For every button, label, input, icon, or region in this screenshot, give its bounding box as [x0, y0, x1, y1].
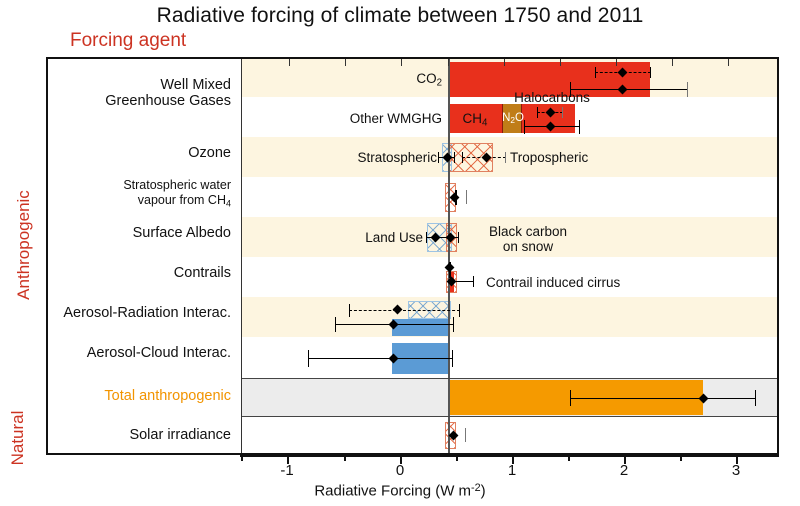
forcing-agent-header: Forcing agent — [70, 30, 186, 52]
axis-label-2: 2 — [620, 462, 628, 479]
errorcap-ari-inner-right — [459, 304, 460, 317]
row-label-solar: Solar irradiance — [129, 427, 231, 443]
errorbar-aerosol-cloud — [308, 358, 453, 359]
row-label-aerosol-radiation: Aerosol-Radiation Interac. — [63, 305, 231, 321]
errorcap-contrail-cirrus-right — [473, 276, 474, 287]
axis-tick-minor-0.5 — [456, 455, 458, 461]
x-axis-title: Radiative Forcing (W m-2) — [0, 482, 800, 500]
errorcap-wmghg-outer-left — [524, 120, 525, 134]
row-label-total-anthropogenic: Total anthropogenic — [104, 388, 231, 404]
annotation-black-carbon: Black carbon on snow — [489, 224, 567, 254]
band-aerosol-radiation — [242, 297, 777, 337]
top-tick-4 — [448, 59, 449, 66]
side-label-natural: Natural — [8, 388, 28, 488]
axis-tick-minor-1.5 — [568, 455, 570, 461]
top-tick-6 — [560, 59, 561, 66]
errorcap-total-right — [755, 390, 756, 406]
row-label-strat-water: Stratospheric water vapour from CH4 — [123, 178, 231, 211]
axis-tick-minor-2.5 — [680, 455, 682, 461]
annotation-n2o: N2O — [502, 112, 524, 125]
errorcap-solar-right — [465, 428, 466, 442]
row-label-albedo: Surface Albedo — [133, 225, 231, 241]
errorcap-albedo-left — [426, 232, 427, 243]
annotation-ch4: CH4 — [463, 111, 488, 128]
annotation-halocarbons: Halocarbons — [514, 90, 590, 105]
row-label-ozone: Ozone — [188, 145, 231, 161]
top-tick-1 — [289, 59, 290, 66]
errorcap-ozone-strat-left — [438, 152, 439, 163]
top-tick-3 — [401, 59, 402, 66]
annotation-tropospheric: Tropospheric — [510, 150, 588, 165]
side-label-anthropogenic: Anthropogenic — [14, 175, 34, 315]
row-label-wmghg-line2: Greenhouse Gases — [105, 93, 231, 109]
band-aerosol-cloud — [242, 337, 777, 377]
errorcap-aci-left — [308, 350, 309, 367]
errorcap-ari-inner-left — [349, 304, 350, 317]
zero-axis-line — [448, 59, 450, 453]
errorcap-co2-inner-left — [595, 67, 596, 78]
row-label-wmghg: Well Mixed Greenhouse Gases — [105, 77, 231, 109]
errorcap-ari-outer-right — [453, 317, 454, 332]
annotation-contrail-cirrus: Contrail induced cirrus — [486, 275, 620, 290]
row-label-column: Well Mixed Greenhouse Gases Ozone Strato… — [48, 59, 242, 453]
errorbar-total-anthropogenic — [570, 398, 756, 399]
errorcap-ozone-trop-right — [505, 152, 506, 163]
axis-label-3: 3 — [732, 462, 740, 479]
divider-total-bottom — [242, 416, 777, 417]
errorcap-strat-water-right — [466, 190, 467, 204]
axis-label-0: 0 — [396, 462, 404, 479]
plot-area: CO2 Other WMGHG CH4 N2O Halocarbons — [242, 59, 777, 453]
axis-tick-minor--1.5 — [241, 455, 243, 461]
chart-frame: Well Mixed Greenhouse Gases Ozone Strato… — [46, 57, 779, 455]
x-axis-line — [240, 455, 779, 457]
axis-label-1: 1 — [508, 462, 516, 479]
errorcap-co2-outer-right — [687, 82, 688, 97]
bar-aerosol-radiation — [392, 319, 448, 336]
errorbar-aerosol-radiation-inner — [349, 310, 460, 311]
top-tick-9 — [728, 59, 729, 66]
annotation-stratospheric: Stratospheric — [357, 150, 437, 165]
divider-total-top — [242, 378, 777, 379]
axis-tick-minor--0.5 — [344, 455, 346, 461]
errorcap-wmghg-inner-right — [562, 107, 563, 118]
top-tick-5 — [504, 59, 505, 66]
errorcap-co2-inner-right — [650, 67, 651, 78]
errorcap-ozone-trop-left — [462, 152, 463, 163]
errorcap-ari-outer-left — [335, 317, 336, 332]
errorcap-total-left — [570, 390, 571, 406]
errorcap-aci-right — [452, 350, 453, 367]
band-strat-water — [242, 177, 777, 217]
errorcap-ozone-strat-right — [454, 152, 455, 163]
row-label-aerosol-cloud: Aerosol-Cloud Interac. — [87, 345, 231, 361]
annotation-co2: CO2 — [416, 71, 442, 88]
page-title: Radiative forcing of climate between 175… — [0, 4, 800, 28]
errorcap-wmghg-inner-left — [537, 107, 538, 118]
annotation-other-wmghg: Other WMGHG — [350, 111, 442, 126]
band-solar — [242, 416, 777, 453]
axis-label--1: -1 — [280, 462, 293, 479]
ch4-subscript: 4 — [226, 198, 231, 208]
top-tick-8 — [672, 59, 673, 66]
row-label-wmghg-line1: Well Mixed — [160, 77, 231, 93]
axis-unit-exponent: -2 — [471, 482, 481, 494]
errorcap-albedo-right — [458, 232, 459, 243]
row-label-contrails: Contrails — [174, 265, 231, 281]
errorcap-wmghg-outer-right — [579, 120, 580, 134]
annotation-land-use: Land Use — [365, 230, 423, 245]
top-tick-7 — [616, 59, 617, 66]
top-tick-2 — [345, 59, 346, 66]
